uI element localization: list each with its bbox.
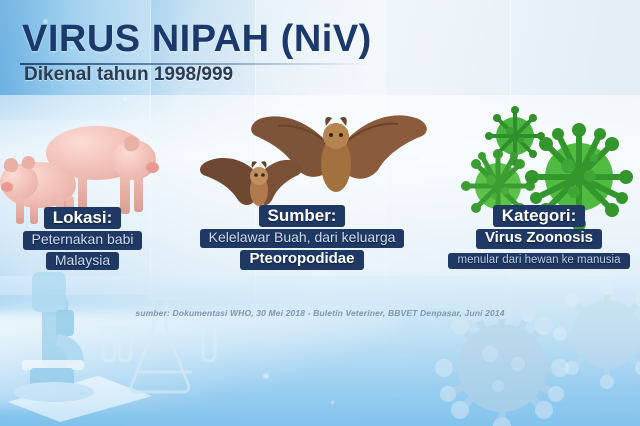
lab-equipment-illustration [2, 264, 252, 424]
test-tube-rack-icon [98, 324, 230, 361]
bokeh-dot [122, 96, 128, 102]
callout-sumber-line2: Kelelawar Buah, dari keluarga [200, 229, 405, 248]
callout-sumber-heading: Sumber: [259, 205, 346, 227]
callout-kategori: Kategori: Virus Zoonosis menular dari he… [438, 204, 640, 270]
source-credit: sumber: Dokumentasi WHO, 30 Mei 2018 - B… [0, 308, 640, 318]
callout-kategori-line3: menular dari hewan ke manusia [448, 253, 629, 269]
background-floor-sheen [0, 312, 404, 408]
bats-photo [196, 104, 436, 216]
bokeh-dot [330, 400, 335, 405]
page-subtitle: Dikenal tahun 1998/999 [24, 64, 233, 86]
background-floor [0, 276, 640, 426]
callout-lokasi-heading: Lokasi: [44, 207, 122, 229]
pig-small-snout [1, 182, 13, 192]
callout-sumber-line3: Pteoropodidae [240, 250, 363, 270]
page-title: VIRUS NIPAH (NiV) [22, 18, 372, 61]
callout-kategori-heading: Kategori: [493, 205, 586, 227]
callout-kategori-line2: Virus Zoonosis [476, 229, 602, 249]
virus-particle-small-icon [552, 272, 640, 392]
bokeh-dot [262, 372, 270, 380]
callout-lokasi-line2: Peternakan babi [23, 231, 143, 250]
callout-lokasi-line3: Malaysia [46, 252, 119, 271]
callout-lokasi: Lokasi: Peternakan babi Malaysia [0, 206, 165, 271]
pig-large-snout [146, 162, 159, 173]
infographic-canvas: VIRUS NIPAH (NiV) Dikenal tahun 1998/999… [0, 0, 640, 426]
bokeh-dot [540, 330, 546, 336]
callout-sumber: Sumber: Kelelawar Buah, dari keluarga Pt… [168, 204, 436, 271]
microscope-icon [8, 272, 152, 422]
